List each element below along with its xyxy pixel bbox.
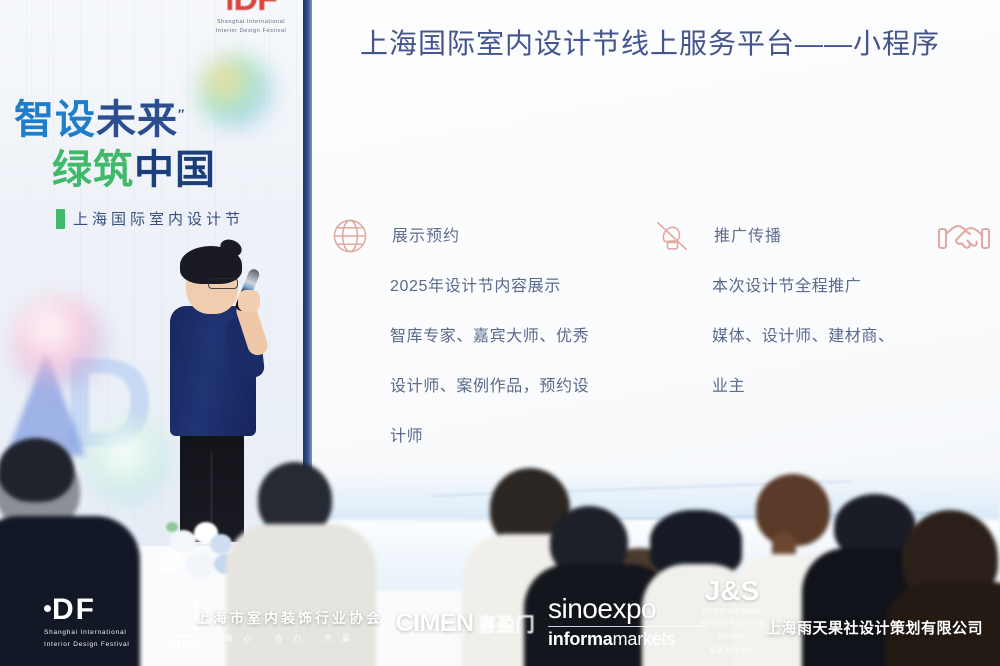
backdrop-headline-line1: 智设未来″ [14, 100, 294, 140]
cimen-en: CIMEN [395, 609, 473, 638]
body-line: 本次设计节全程推广 [712, 262, 962, 312]
idf-logo-subtitle-line2: Interior Design Festival [196, 28, 306, 34]
flower [158, 550, 184, 574]
backdrop-subtitle: 上海国际室内设计节 [73, 208, 244, 229]
cimen-crest-icon: ⚜ [378, 615, 391, 633]
slide-title: 上海国际室内设计节线上服务平台——小程序 [360, 22, 940, 62]
idf-logo-subtitle-line1: Shanghai International [196, 19, 306, 25]
js-en-line1: INTERNATIONAL [684, 607, 780, 617]
sida-cn-slogan: 聚 心 · 合 力 · 共 赢 [196, 633, 383, 644]
backdrop-subtitle-row: 上海国际室内设计节 [56, 208, 244, 229]
leaf [166, 522, 178, 532]
body-line: 设计师、案例作品，预约设 [390, 362, 640, 412]
decor-blob [12, 296, 104, 388]
body-line: 智库专家、嘉宾大师、优秀 [390, 312, 640, 362]
column-body-promotion: 本次设计节全程推广 媒体、设计师、建材商、 业主 [712, 262, 962, 412]
flower [214, 554, 236, 574]
headline-mark: ″ [178, 107, 185, 122]
sponsor-logo-bar: DF Shanghai International Interior Desig… [0, 580, 1000, 666]
water-bottle [327, 536, 342, 582]
js-cn: 捷森国际设计 [684, 644, 780, 654]
headline-part-a: 智设 [14, 98, 96, 142]
flower [210, 534, 232, 554]
js-mark: J&S [684, 577, 780, 605]
water-bottle [952, 528, 967, 574]
megaphone-muted-icon [650, 214, 694, 258]
body-line: 计师 [390, 412, 640, 462]
body-line: 2025年设计节内容展示 [390, 262, 640, 312]
speaker-figure [160, 248, 280, 548]
idf-logo-mark: iDF [196, 0, 306, 16]
sida-cn-name: 上海市室内装饰行业协会 [196, 608, 383, 628]
headline-part-d: 中国 [134, 148, 216, 192]
backdrop-headline-line2: 绿筑中国 [52, 150, 294, 190]
speaker-hand [238, 290, 260, 312]
idf-dot [44, 605, 51, 612]
logo-js: J&S INTERNATIONAL INTERIOR DESIGN GROUP … [684, 577, 780, 654]
headline-part-c: 绿筑 [52, 148, 134, 192]
decor-blob [85, 418, 171, 504]
accent-tick [56, 209, 65, 229]
markets-light: markets [613, 629, 676, 649]
cimen-cn: 喜盈门 [478, 610, 535, 637]
flower [824, 558, 848, 580]
backdrop-headline: 智设未来″ 绿筑中国 [14, 100, 294, 190]
informa-bold: informa [548, 629, 613, 649]
globe-icon [328, 214, 372, 258]
flower [186, 552, 214, 578]
column-heading-exhibit: 展示预约 [392, 222, 460, 246]
headline-part-b: 未来 [96, 98, 178, 142]
column-heading-promotion: 推广传播 [714, 222, 782, 246]
backdrop-idf-logo: iDF Shanghai International Interior Desi… [196, 0, 306, 34]
speaker-glasses [208, 278, 238, 289]
column-body-exhibit: 2025年设计节内容展示 智库专家、嘉宾大师、优秀 设计师、案例作品，预约设 计… [390, 262, 640, 462]
body-line: 业主 [712, 362, 962, 412]
logo-yutian-company: 上海雨天果社设计策划有限公司 [766, 617, 983, 638]
conference-presentation-photo: 上海国际室内设计节线上服务平台——小程序 展示预约 2025年设计节内容展示 [0, 0, 1000, 666]
flower-arrangement [152, 520, 272, 584]
logo-sida-chinese: 上海市室内装饰行业协会 聚 心 · 合 力 · 共 赢 [196, 608, 383, 644]
idf-mark-text: DF [52, 593, 96, 626]
logo-cimen: ⚜ CIMEN 喜盈门 [378, 609, 535, 638]
flower [170, 530, 196, 552]
projection-screen: 上海国际室内设计节线上服务平台——小程序 展示预约 2025年设计节内容展示 [312, 0, 1000, 540]
backdrop-edge-shadow [303, 0, 312, 546]
body-line: 媒体、设计师、建材商、 [712, 312, 962, 362]
handshake-icon [936, 212, 992, 262]
